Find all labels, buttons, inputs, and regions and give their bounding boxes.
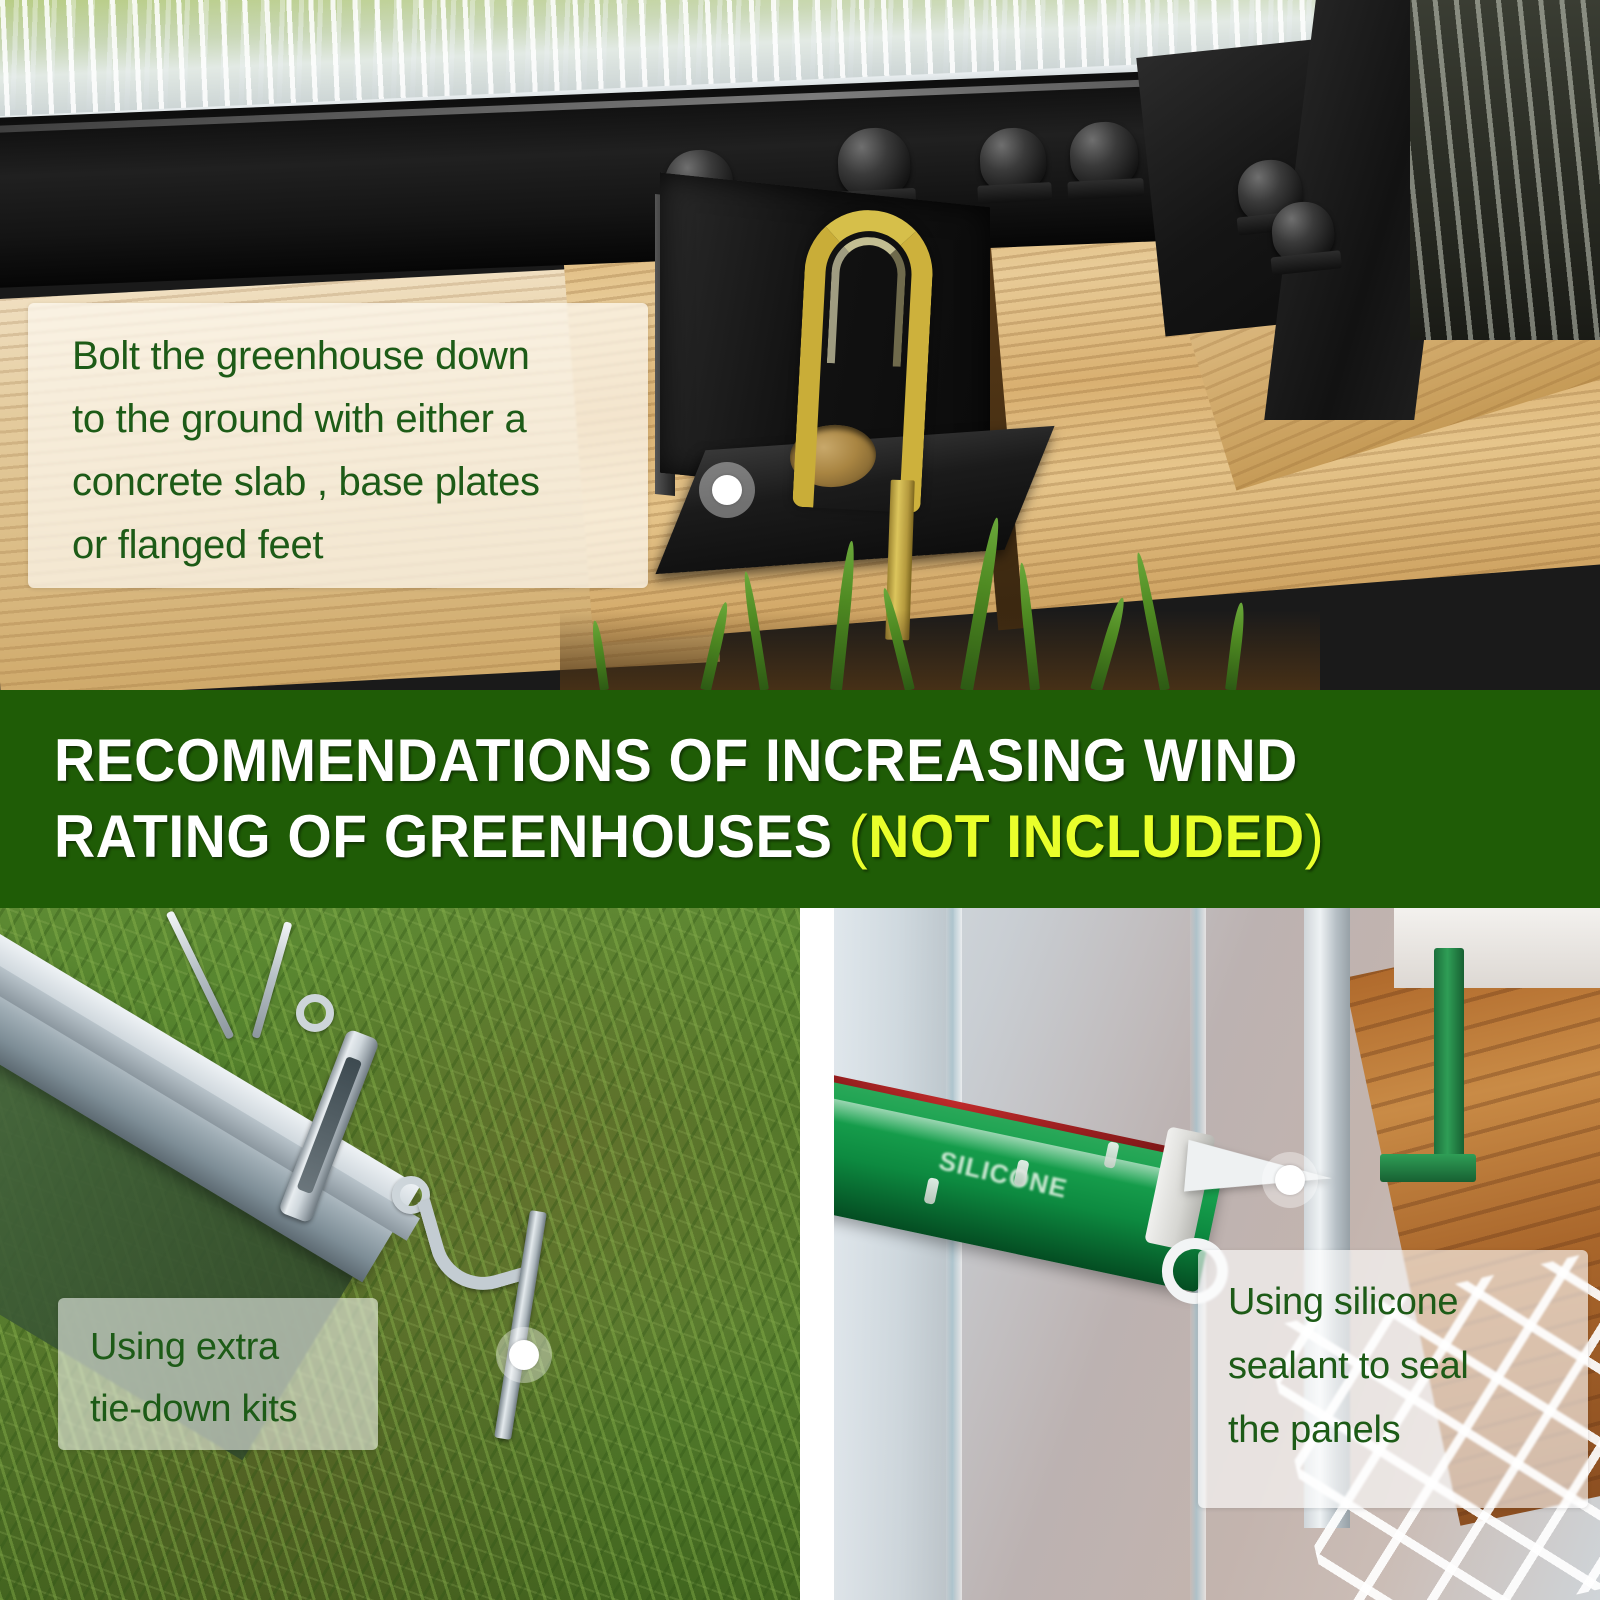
soil-patch: [560, 610, 1320, 690]
polycarbonate-panel-right: [1410, 0, 1600, 340]
green-frame-bar-horizontal: [1380, 1154, 1476, 1182]
glazing-panel-left: [834, 908, 954, 1600]
caption-tie-down-kits: Using extra tie-down kits: [58, 1298, 378, 1450]
ground-anchor-photo: Bolt the greenhouse down to the ground w…: [0, 0, 1600, 690]
caption-tie-down-text: Using extra tie-down kits: [58, 1298, 378, 1440]
banner-paren-close: ): [1305, 803, 1324, 870]
caption-bolt-text: Bolt the greenhouse down to the ground w…: [28, 303, 648, 577]
ground-anchor-u-bolt: [792, 207, 936, 513]
caption-bolt-greenhouse: Bolt the greenhouse down to the ground w…: [28, 303, 648, 588]
caption-silicone-sealant: Using silicone sealant to seal the panel…: [1198, 1250, 1588, 1508]
banner-line-2: RATING OF GREENHOUSES (NOT INCLUDED): [54, 799, 1471, 875]
cable-thimble-eye-icon: [296, 994, 334, 1032]
hotspot-dot-icon[interactable]: [496, 1327, 552, 1383]
tie-down-kit-photo: [0, 908, 800, 1600]
wind-rating-banner: RECOMMENDATIONS OF INCREASING WIND RATIN…: [0, 690, 1600, 908]
panel-divider: [800, 908, 834, 1600]
hotspot-dot-icon[interactable]: [699, 462, 755, 518]
caption-silicone-text: Using silicone sealant to seal the panel…: [1198, 1250, 1588, 1462]
hotspot-dot-icon[interactable]: [1262, 1152, 1318, 1208]
banner-line-2-main: RATING OF GREENHOUSES: [54, 803, 832, 870]
dome-nut-icon: [978, 126, 1047, 193]
banner-not-included: NOT INCLUDED: [868, 803, 1304, 870]
infographic-root: Bolt the greenhouse down to the ground w…: [0, 0, 1600, 1600]
dome-nut-icon: [1068, 120, 1139, 189]
panel-seam: [946, 908, 962, 1600]
banner-line-1: RECOMMENDATIONS OF INCREASING WIND: [54, 723, 1471, 799]
banner-paren-open: (: [849, 803, 868, 870]
back-wall: [1394, 908, 1600, 988]
green-frame-bar: [1434, 948, 1464, 1178]
